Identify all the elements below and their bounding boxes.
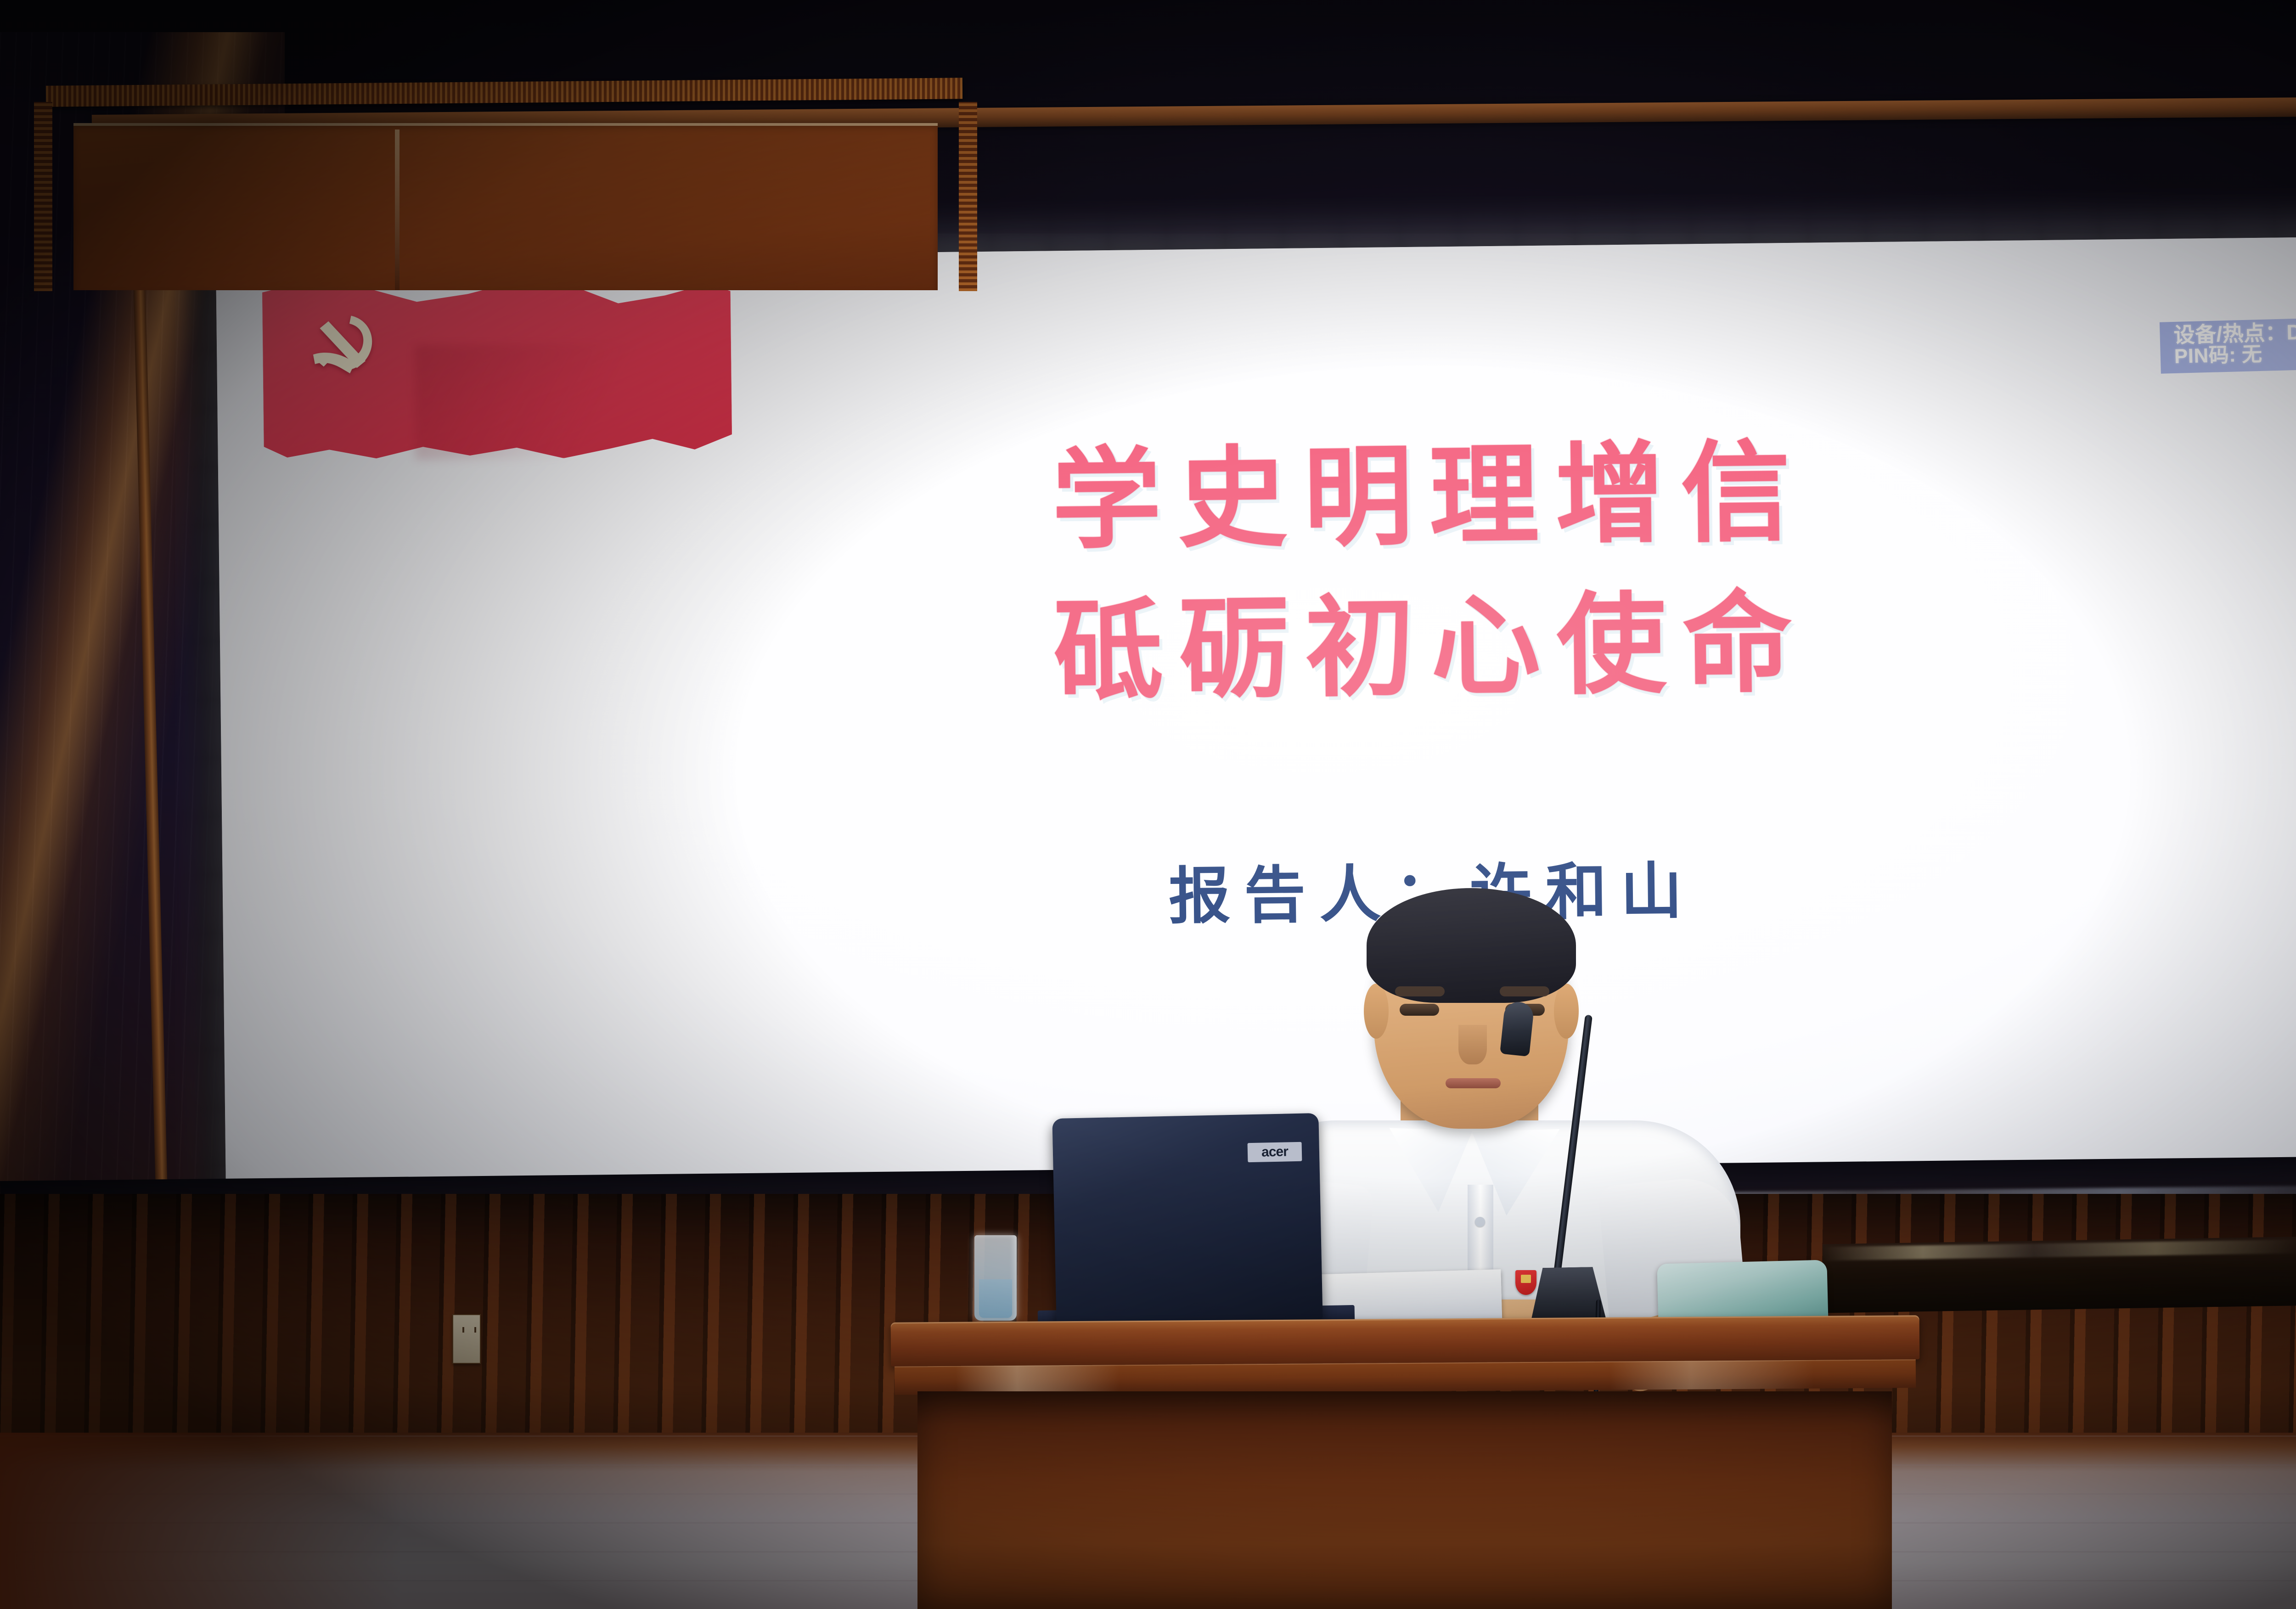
side-desk <box>1823 1236 2296 1313</box>
speaker-eyebrow-right <box>1500 986 1549 996</box>
podium-body <box>917 1391 1892 1609</box>
speaker-eyebrow-left <box>1395 986 1445 996</box>
speaker-nose <box>1458 1025 1487 1064</box>
podium-reed-left <box>34 102 52 291</box>
podium-front-panel <box>73 123 938 290</box>
hammer-and-sickle-icon <box>298 305 391 393</box>
podium-top-surface <box>891 1315 1920 1367</box>
party-emblem-pin-icon <box>1515 1270 1536 1295</box>
device-hotspot-badge: 设备/热点：DT74_726 PIN码: 无 <box>2160 314 2296 374</box>
slide-title-line-1: 学史明理增信 <box>218 408 2296 585</box>
podium-panel-split <box>395 129 400 290</box>
acer-logo: acer <box>1248 1142 1302 1162</box>
speaker-hair <box>1367 888 1576 1003</box>
speaker-ear-left <box>1364 984 1389 1039</box>
slide-title-line-2: 砥砺初心使命 <box>219 559 2296 736</box>
speaking-podium <box>899 1319 1911 1609</box>
podium-reed-right <box>959 102 977 291</box>
speaker-ear-right <box>1554 984 1579 1039</box>
speaker-mouth <box>1446 1078 1501 1088</box>
shirt-button <box>1475 1217 1485 1227</box>
laptop-lid: acer <box>1052 1113 1322 1325</box>
auditorium-scene: 设备/热点：DT74_726 PIN码: 无 学史明理增信 砥砺初心使命 报告人… <box>0 0 2296 1609</box>
speaker-eye-left <box>1400 1004 1439 1016</box>
water-cup <box>974 1235 1017 1321</box>
slide-title: 学史明理增信 砥砺初心使命 <box>218 408 2296 736</box>
wall-outlet-icon <box>452 1314 481 1364</box>
